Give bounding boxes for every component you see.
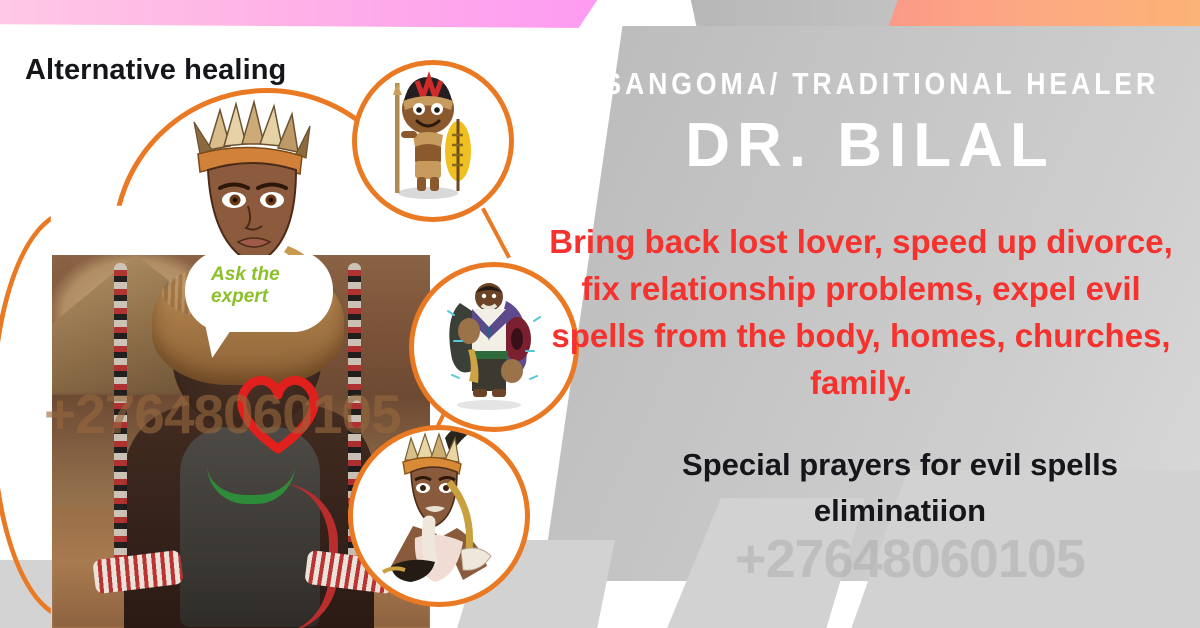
illustrated-healer-portrait bbox=[150, 96, 345, 281]
badge-crouching-warrior bbox=[348, 425, 530, 607]
phone-watermark: +27648060105 bbox=[620, 528, 1200, 590]
services-body-text: Bring back lost lover, speed up divorce,… bbox=[536, 218, 1186, 406]
beaded-strand-left bbox=[114, 263, 127, 563]
speech-bubble-text: Ask the expert bbox=[211, 264, 321, 308]
headline-title: DR. BILAL bbox=[560, 110, 1180, 181]
speech-bubble: Ask the expert bbox=[185, 255, 333, 332]
poster-canvas: Alternative healing bbox=[0, 0, 1200, 628]
badge-zulu-warrior-cartoon bbox=[352, 60, 514, 222]
decorative-bar-pink bbox=[0, 0, 600, 28]
heart-icon bbox=[232, 369, 324, 455]
subheadline-text: Special prayers for evil spells eliminat… bbox=[600, 442, 1200, 534]
kicker-text: SANGOMA/ TRADITIONAL HEALER bbox=[603, 66, 1136, 102]
page-title: Alternative healing bbox=[25, 54, 286, 87]
badge-connector-1 bbox=[481, 207, 511, 258]
